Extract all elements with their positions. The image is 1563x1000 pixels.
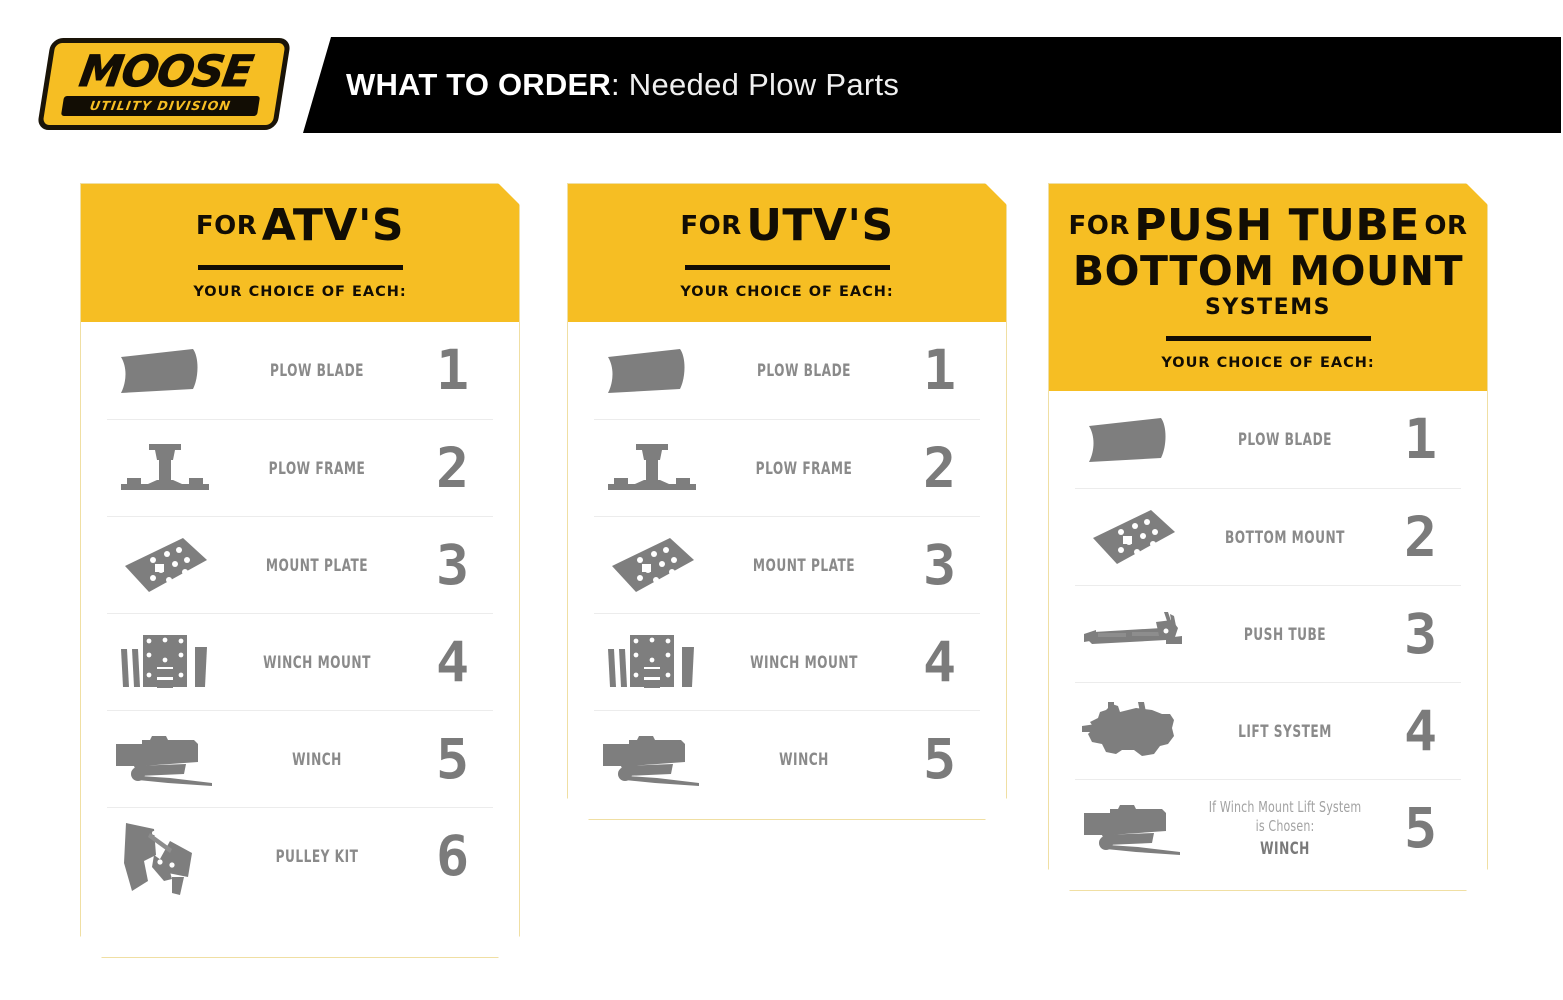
row-number: 1	[898, 343, 980, 398]
card-push-tube-bottom-mount: FOR PUSH TUBE OR BOTTOM MOUNT SYSTEMS YO…	[1048, 183, 1488, 891]
row-number: 5	[898, 732, 980, 787]
row-label: WINCH	[727, 750, 881, 769]
winch-icon	[1075, 797, 1191, 859]
card-utvs-title-prefix: FOR	[680, 211, 741, 241]
card-push-tube-rows: PLOW BLADE 1	[1049, 391, 1487, 876]
row-label: WINCH MOUNT	[727, 653, 881, 672]
row-label: PLOW FRAME	[727, 459, 881, 478]
row-label: PUSH TUBE	[1208, 625, 1362, 644]
card-push-tube-subtitle: YOUR CHOICE OF EACH:	[1063, 355, 1473, 371]
row-number: 1	[411, 343, 493, 398]
row-label: WINCH	[240, 750, 394, 769]
card-atvs-subtitle: YOUR CHOICE OF EACH:	[95, 284, 505, 300]
winch-icon	[107, 728, 223, 790]
row-label: PLOW FRAME	[240, 459, 394, 478]
row-label-text: WINCH	[1208, 839, 1362, 858]
row-number: 4	[411, 635, 493, 690]
mount-plate-icon	[594, 532, 710, 598]
table-row[interactable]: PLOW BLADE 1	[1075, 391, 1461, 488]
table-row[interactable]: LIFT SYSTEM 4	[1075, 682, 1461, 779]
row-label: BOTTOM MOUNT	[1208, 528, 1362, 547]
card-utvs: FOR UTV'S YOUR CHOICE OF EACH: PLOW BLAD…	[567, 183, 1007, 820]
card-utvs-title-main: UTV'S	[746, 200, 893, 251]
table-row[interactable]: WINCH MOUNT 4	[107, 613, 493, 710]
card-push-tube-title-line3: SYSTEMS	[1063, 297, 1473, 319]
plow-frame-icon	[594, 438, 710, 498]
plow-blade-icon	[594, 343, 710, 399]
table-row[interactable]: PLOW FRAME 2	[594, 419, 980, 516]
card-utvs-divider	[685, 265, 890, 270]
bottom-mount-icon	[1075, 504, 1191, 570]
table-row[interactable]: PLOW BLADE 1	[107, 322, 493, 419]
row-label: PLOW BLADE	[727, 361, 881, 380]
row-number: 4	[1379, 704, 1461, 759]
row-number: 5	[411, 732, 493, 787]
card-push-tube-title: FOR PUSH TUBE OR BOTTOM MOUNT SYSTEMS	[1063, 204, 1473, 319]
card-atvs: FOR ATV'S YOUR CHOICE OF EACH: PLOW BLAD…	[80, 183, 520, 958]
table-row[interactable]: WINCH 5	[107, 710, 493, 807]
push-tube-icon	[1075, 606, 1191, 662]
card-push-tube-title-suffix: OR	[1424, 211, 1467, 241]
card-atvs-title-prefix: FOR	[196, 211, 257, 241]
row-number: 2	[411, 441, 493, 496]
card-push-tube-title-line2: BOTTOM MOUNT	[1063, 251, 1473, 292]
row-number: 1	[1379, 412, 1461, 467]
winch-mount-icon	[594, 629, 710, 695]
table-row[interactable]: PLOW BLADE 1	[594, 322, 980, 419]
plow-blade-icon	[107, 343, 223, 399]
row-number: 6	[411, 829, 493, 884]
card-utvs-subtitle: YOUR CHOICE OF EACH:	[582, 284, 992, 300]
row-label: PLOW BLADE	[1208, 430, 1362, 449]
row-label: PLOW BLADE	[240, 361, 394, 380]
card-utvs-rows: PLOW BLADE 1 PLOW FRAME 2	[568, 322, 1006, 807]
mount-plate-icon	[107, 532, 223, 598]
row-number: 2	[1379, 510, 1461, 565]
card-push-tube-header: FOR PUSH TUBE OR BOTTOM MOUNT SYSTEMS YO…	[1049, 184, 1487, 391]
lift-system-icon	[1075, 700, 1191, 762]
row-label: MOUNT PLATE	[727, 556, 881, 575]
table-row[interactable]: PLOW FRAME 2	[107, 419, 493, 516]
row-label: WINCH MOUNT	[240, 653, 394, 672]
table-row[interactable]: WINCH 5	[594, 710, 980, 807]
winch-icon	[594, 728, 710, 790]
row-label: If Winch Mount Lift System is Chosen: WI…	[1208, 798, 1362, 858]
row-number: 5	[1379, 801, 1461, 856]
table-row[interactable]: BOTTOM MOUNT 2	[1075, 488, 1461, 585]
card-utvs-header: FOR UTV'S YOUR CHOICE OF EACH:	[568, 184, 1006, 322]
row-label: MOUNT PLATE	[240, 556, 394, 575]
card-atvs-header: FOR ATV'S YOUR CHOICE OF EACH:	[81, 184, 519, 322]
winch-mount-icon	[107, 629, 223, 695]
plow-blade-icon	[1075, 412, 1191, 468]
card-atvs-title-main: ATV'S	[262, 200, 404, 251]
card-push-tube-title-main: PUSH TUBE	[1134, 200, 1420, 251]
card-atvs-divider	[198, 265, 403, 270]
plow-frame-icon	[107, 438, 223, 498]
card-push-tube-title-prefix: FOR	[1068, 211, 1129, 241]
table-row[interactable]: PUSH TUBE 3	[1075, 585, 1461, 682]
card-push-tube-divider	[1166, 336, 1371, 341]
row-number: 4	[898, 635, 980, 690]
row-number: 3	[1379, 607, 1461, 662]
row-number: 3	[411, 538, 493, 593]
row-number: 2	[898, 441, 980, 496]
row-label: PULLEY KIT	[240, 847, 394, 866]
table-row[interactable]: WINCH MOUNT 4	[594, 613, 980, 710]
card-utvs-title: FOR UTV'S	[582, 204, 992, 248]
card-atvs-title: FOR ATV'S	[95, 204, 505, 248]
pulley-kit-icon	[107, 815, 223, 897]
row-note: If Winch Mount Lift System is Chosen:	[1208, 798, 1362, 836]
table-row[interactable]: MOUNT PLATE 3	[107, 516, 493, 613]
table-row[interactable]: MOUNT PLATE 3	[594, 516, 980, 613]
cards-container: FOR ATV'S YOUR CHOICE OF EACH: PLOW BLAD…	[0, 0, 1563, 1000]
table-row[interactable]: PULLEY KIT 6	[107, 807, 493, 904]
card-atvs-rows: PLOW BLADE 1 PLOW FRAME 2	[81, 322, 519, 904]
row-label: LIFT SYSTEM	[1208, 722, 1362, 741]
table-row[interactable]: If Winch Mount Lift System is Chosen: WI…	[1075, 779, 1461, 876]
row-number: 3	[898, 538, 980, 593]
